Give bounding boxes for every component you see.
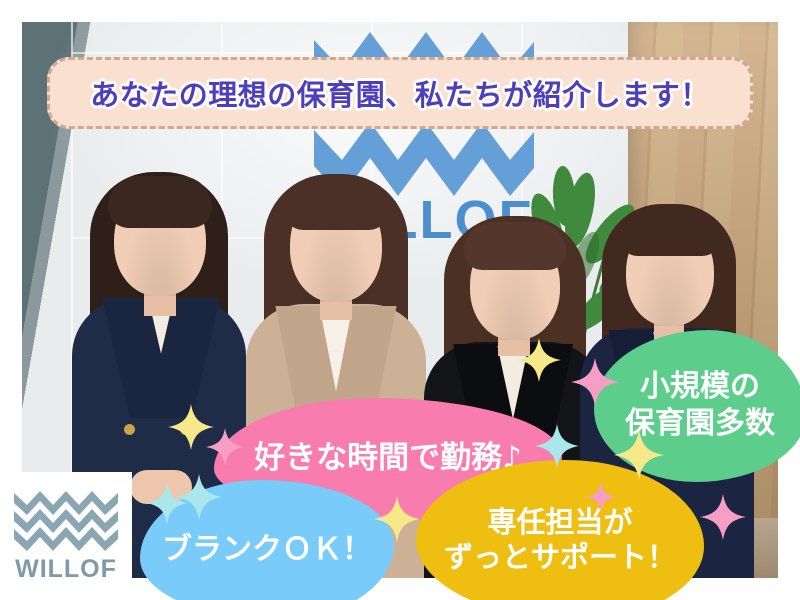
jacket-button xyxy=(124,424,135,435)
headline-banner: あなたの理想の保育園、私たちが紹介します！ xyxy=(47,57,753,129)
bubble-text-yellow: 専任担当が ずっとサポート！ xyxy=(444,505,676,576)
willof-corner-logo: WILLOF xyxy=(0,472,132,600)
bubble-text-pink: 好きな時間で勤務♪ xyxy=(254,440,522,478)
sparkle-yellow-3-icon xyxy=(614,430,664,480)
chevron-icon xyxy=(14,489,118,551)
logo-wordmark: WILLOF xyxy=(15,555,117,584)
headline-text: あなたの理想の保育園、私たちが紹介します！ xyxy=(90,72,710,114)
sparkle-yellow-2-icon xyxy=(517,338,561,382)
bangs xyxy=(620,210,720,256)
sparkle-pink-1-icon xyxy=(206,428,244,466)
bangs xyxy=(464,222,566,270)
sparkle-yellow-4-icon xyxy=(374,496,420,542)
sparkle-cyan-2-icon xyxy=(535,424,579,468)
bangs xyxy=(284,180,388,230)
advertisement-banner: WILLOF xyxy=(0,0,800,600)
bubble-text-blue: ブランクＯＫ！ xyxy=(162,532,372,569)
sparkle-pink-4-icon xyxy=(586,482,616,512)
sparkle-cyan-3-icon xyxy=(146,482,188,524)
bangs xyxy=(108,176,212,228)
sparkle-pink-3-icon xyxy=(700,494,746,540)
sparkle-pink-2-icon xyxy=(571,358,619,406)
